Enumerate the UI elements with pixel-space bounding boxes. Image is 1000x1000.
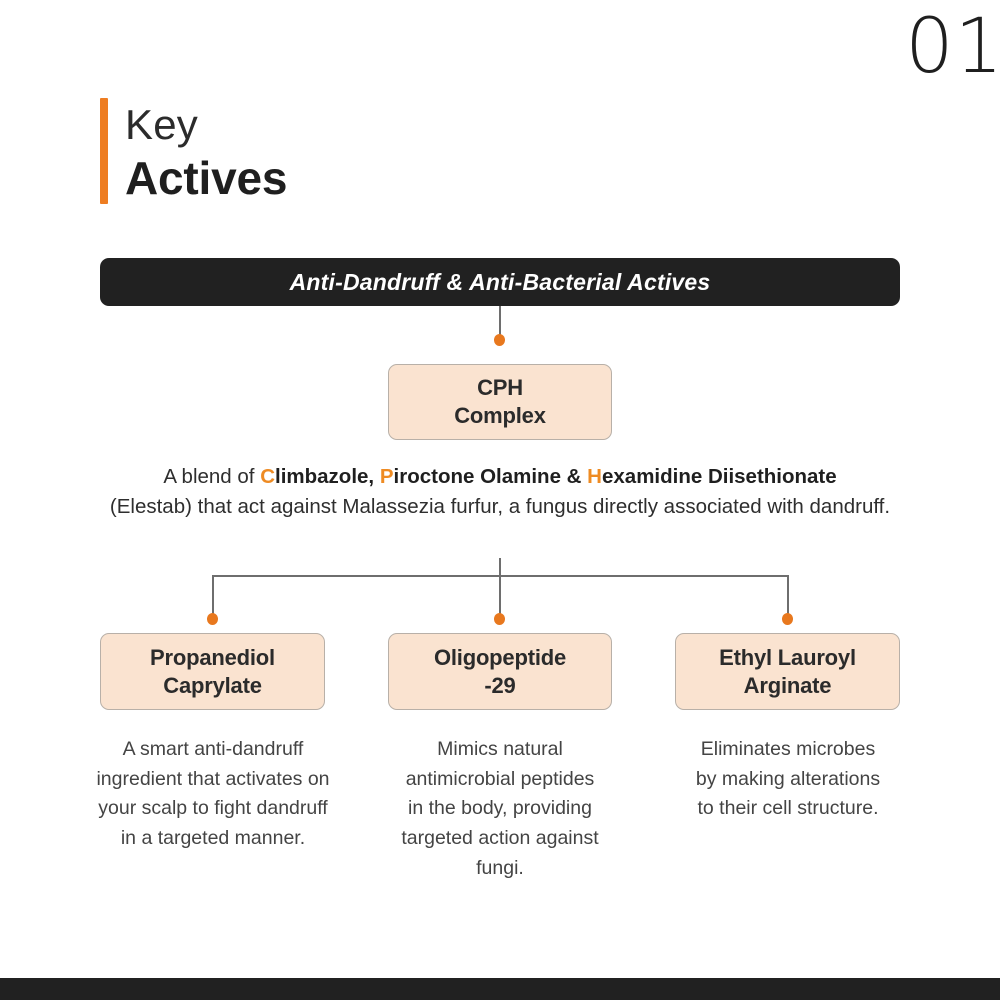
blend-lead: A blend of [163,465,260,488]
node-ethyl-lauroyl-arginate-label-line1: Ethyl Lauroyl [719,645,856,670]
footer-bar [0,978,1000,1000]
node-cph-complex: CPH Complex [388,364,612,440]
page-title-text: Key Actives [125,98,287,204]
blend-description: A blend of Climbazole, Piroctone Olamine… [80,462,920,522]
section-banner: Anti-Dandruff & Anti-Bacterial Actives [100,258,900,306]
accent-bar [100,98,108,204]
node-oligopeptide-29-label: Oligopeptide -29 [434,644,566,700]
connector-drop-left [212,575,214,616]
node-cph-complex-label-line1: CPH [477,375,523,400]
blend-active-2-initial: P [380,465,394,488]
node-ethyl-lauroyl-arginate-description: Eliminates microbes by making alteration… [690,735,886,824]
blend-tail: (Elestab) that act against Malassezia fu… [110,495,890,518]
node-oligopeptide-29-label-line1: Oligopeptide [434,645,566,670]
page-title-line1: Key [125,100,287,150]
blend-active-1-initial: C [260,465,275,488]
node-propanediol-caprylate-label-line2: Caprylate [163,673,261,698]
node-propanediol-caprylate-description: A smart anti-dandruff ingredient that ac… [88,735,338,854]
node-propanediol-caprylate-label-line1: Propanediol [150,645,275,670]
connector-dot-cph [494,334,505,346]
page-title: Key Actives [100,98,287,204]
blend-active-1-rest: limbazole, [275,465,380,488]
page-number: 01 [905,8,1000,84]
connector-drop-right [787,575,789,616]
node-ethyl-lauroyl-arginate-label: Ethyl Lauroyl Arginate [719,644,856,700]
connector-drop-center [499,575,501,616]
connector-stem-center [499,558,501,576]
page-title-line2: Actives [125,152,287,205]
node-ethyl-lauroyl-arginate: Ethyl Lauroyl Arginate [675,633,900,710]
section-banner-label: Anti-Dandruff & Anti-Bacterial Actives [290,269,711,296]
node-ethyl-lauroyl-arginate-label-line2: Arginate [744,673,832,698]
slide-canvas: 01 Key Actives Anti-Dandruff & Anti-Bact… [0,0,1000,1000]
node-oligopeptide-29-label-line2: -29 [484,673,515,698]
connector-dot-left [207,613,218,625]
node-oligopeptide-29: Oligopeptide -29 [388,633,612,710]
node-cph-complex-label-line2: Complex [454,403,546,428]
node-propanediol-caprylate-label: Propanediol Caprylate [150,644,275,700]
node-oligopeptide-29-description: Mimics natural antimicrobial peptides in… [400,735,600,883]
connector-dot-right [782,613,793,625]
blend-active-3-rest: examidine Diisethionate [602,465,837,488]
node-propanediol-caprylate: Propanediol Caprylate [100,633,325,710]
blend-active-2-rest: iroctone Olamine & [394,465,588,488]
blend-active-3-initial: H [587,465,602,488]
connector-dot-center [494,613,505,625]
node-cph-complex-label: CPH Complex [454,374,546,430]
